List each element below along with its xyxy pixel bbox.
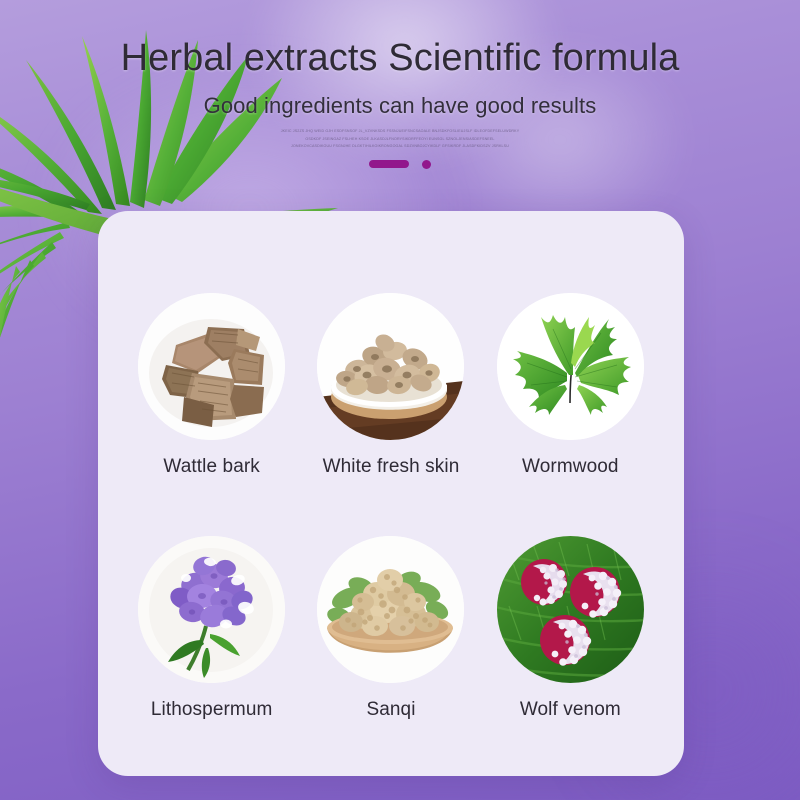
- ingredient-item[interactable]: White fresh skin: [301, 293, 480, 478]
- ingredient-label: Sanqi: [366, 699, 415, 721]
- pagination-dot-active[interactable]: [369, 160, 409, 168]
- pagination-dot-inactive[interactable]: [422, 160, 431, 169]
- red-white-flower-buds-icon: [497, 536, 644, 683]
- ingredient-item[interactable]: Sanqi: [301, 536, 480, 721]
- ingredient-item[interactable]: Wolf venom: [481, 536, 660, 721]
- ingredient-label: Wormwood: [522, 456, 619, 478]
- ingredient-item[interactable]: Wormwood: [481, 293, 660, 478]
- microcopy-line-2: OSDKDF JSEINGAZ FSLHEH KSOE JLKASDJLFNOR…: [255, 136, 545, 144]
- microcopy-line-3: JONEKOVCASDIKOUU FSGNJHE DLGKTIHILKOIKRO…: [255, 143, 545, 151]
- bowl-of-root-knobs-icon: [317, 536, 464, 683]
- page-subtitle: Good ingredients can have good results: [0, 93, 800, 119]
- microcopy-block: JKEIC JS2ZS JHQ WEID GJH ESDFSNSOF JL_VZ…: [255, 128, 545, 151]
- ingredients-card: Wattle bark: [98, 211, 684, 776]
- page-title: Herbal extracts Scientific formula: [0, 38, 800, 79]
- ingredient-label: White fresh skin: [323, 456, 460, 478]
- bark-chips-icon: [138, 293, 285, 440]
- pagination[interactable]: [0, 160, 800, 169]
- ingredient-item[interactable]: Wattle bark: [122, 293, 301, 478]
- green-leaf-icon: [497, 293, 644, 440]
- microcopy-line-1: JKEIC JS2ZS JHQ WEID GJH ESDFSNSOF JL_VZ…: [255, 128, 545, 136]
- ingredient-label: Lithospermum: [151, 699, 273, 721]
- page-header: Herbal extracts Scientific formula Good …: [0, 0, 800, 185]
- ingredients-grid: Wattle bark: [98, 293, 684, 721]
- ingredient-item[interactable]: Lithospermum: [122, 536, 301, 721]
- bowl-of-dried-root-icon: [317, 293, 464, 440]
- ingredient-label: Wattle bark: [163, 456, 259, 478]
- ingredient-label: Wolf venom: [520, 699, 621, 721]
- purple-flower-icon: [138, 536, 285, 683]
